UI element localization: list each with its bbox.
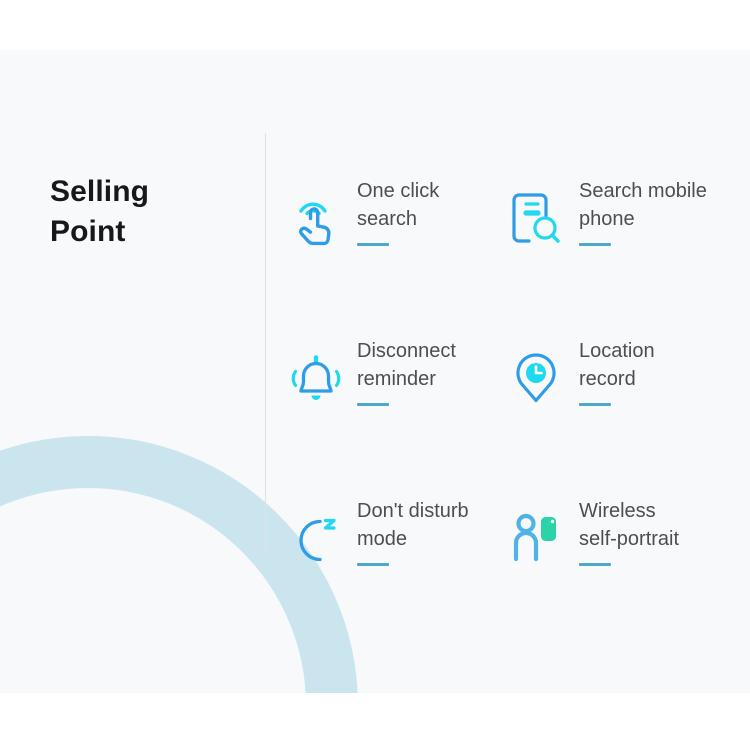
feature-text: Wireless self-portrait (567, 495, 679, 566)
feature-underline (357, 243, 389, 246)
vertical-divider (265, 133, 266, 553)
feature-underline (579, 243, 611, 246)
feature-underline (357, 563, 389, 566)
page-title-line-1: Selling (50, 172, 250, 212)
feature-underline (579, 563, 611, 566)
feature-label: Location record (579, 337, 655, 394)
location-clock-pin-icon (505, 347, 567, 409)
page-title: Selling Point (50, 172, 250, 251)
bell-ringing-icon (285, 347, 347, 409)
feature-text: Disconnect reminder (347, 335, 456, 406)
feature-text: Search mobile phone (567, 175, 707, 246)
feature-label: Disconnect reminder (357, 337, 456, 394)
feature-text: One click search (347, 175, 439, 246)
feature-search-mobile-phone[interactable]: Search mobile phone (505, 175, 750, 335)
feature-one-click-search[interactable]: One click search (285, 175, 505, 335)
feature-location-record[interactable]: Location record (505, 335, 750, 495)
feature-dont-disturb-mode[interactable]: Don't disturb mode (285, 495, 505, 655)
content-panel: Selling Point One click search (0, 50, 750, 693)
selling-point-slide: Selling Point One click search (0, 0, 750, 750)
phone-search-icon (505, 187, 567, 249)
page-title-line-2: Point (50, 212, 250, 252)
feature-disconnect-reminder[interactable]: Disconnect reminder (285, 335, 505, 495)
moon-sleep-icon (285, 507, 347, 569)
feature-text: Location record (567, 335, 655, 406)
feature-underline (357, 403, 389, 406)
feature-text: Don't disturb mode (347, 495, 469, 566)
feature-label: One click search (357, 177, 439, 234)
person-phone-icon (505, 507, 567, 569)
feature-wireless-self-portrait[interactable]: Wireless self-portrait (505, 495, 750, 655)
feature-grid: One click search Sear (285, 175, 750, 655)
feature-underline (579, 403, 611, 406)
feature-label: Don't disturb mode (357, 497, 469, 554)
feature-label: Wireless self-portrait (579, 497, 679, 554)
feature-label: Search mobile phone (579, 177, 707, 234)
one-click-touch-icon (285, 187, 347, 249)
